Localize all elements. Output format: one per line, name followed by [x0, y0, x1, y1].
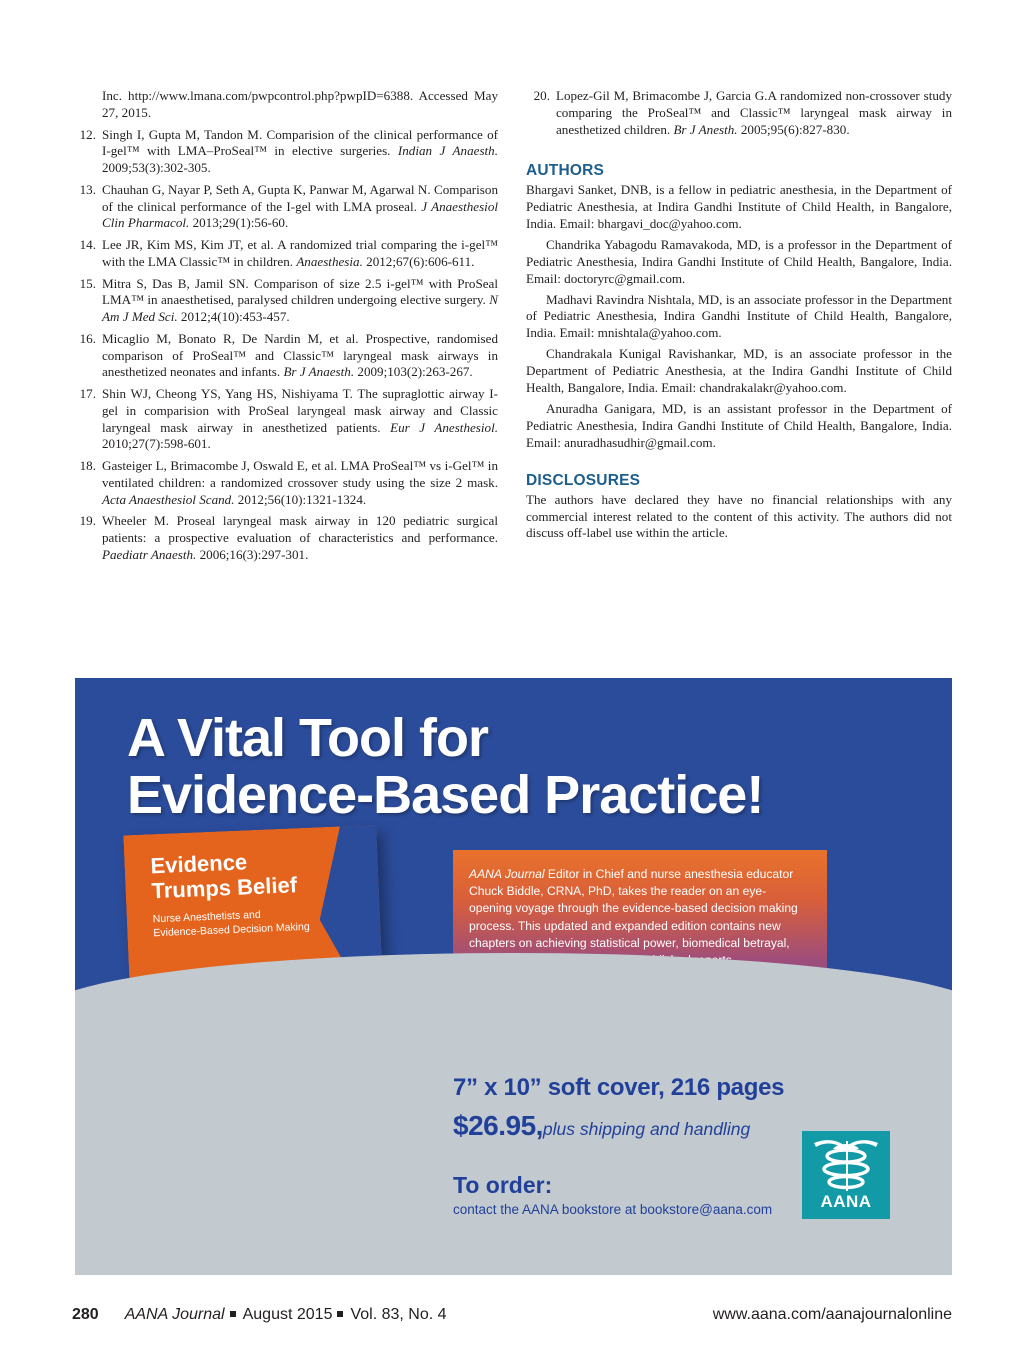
reference-citation: 2012;4(10):453-457.: [178, 309, 290, 324]
reference-number: 14.: [72, 237, 96, 254]
author-bio: Madhavi Ravindra Nishtala, MD, is an ass…: [526, 292, 952, 343]
disclosures-text: The authors have declared they have no f…: [526, 492, 952, 543]
footer-url[interactable]: www.aana.com/aanajournalonline: [713, 1306, 952, 1324]
reference-citation: 2009;103(2):263-267.: [354, 364, 473, 379]
reference-text: Gasteiger L, Brimacombe J, Oswald E, et …: [102, 458, 498, 490]
ad-description-text: Editor in Chief and nurse anesthesia edu…: [469, 867, 798, 967]
text-columns: Inc. http://www.lmana.com/pwpcontrol.php…: [72, 88, 952, 569]
reference-continuation-text: Inc. http://www.lmana.com/pwpcontrol.php…: [102, 88, 498, 120]
author-bio: Anuradha Ganigara, MD, is an assistant p…: [526, 401, 952, 452]
reference-number: 13.: [72, 182, 96, 199]
reference-citation: 2005;95(6):827-830.: [738, 122, 850, 137]
reference-journal: Br J Anaesth.: [283, 364, 354, 379]
right-column: 20.Lopez-Gil M, Brimacombe J, Garcia G.A…: [526, 88, 952, 569]
reference-journal: Br J Anesth.: [673, 122, 737, 137]
disclosures-heading: DISCLOSURES: [526, 472, 952, 490]
author-bio: Chandrakala Kunigal Ravishankar, MD, is …: [526, 346, 952, 397]
reference-text: Mitra S, Das B, Jamil SN. Comparison of …: [102, 276, 498, 308]
reference-number: 12.: [72, 127, 96, 144]
footer-page-number: 280: [72, 1306, 99, 1324]
reference-journal: Anaesthesia.: [296, 254, 363, 269]
footer-issue-date: August 2015: [243, 1306, 333, 1323]
reference-citation: 2013;29(1):56-60.: [189, 215, 288, 230]
author-bio: Bhargavi Sanket, DNB, is a fellow in ped…: [526, 182, 952, 233]
ad-price: $26.95,: [453, 1110, 543, 1141]
authors-heading: AUTHORS: [526, 162, 952, 180]
footer-separator-icon: [337, 1311, 343, 1317]
reference-list-left: 12.Singh I, Gupta M, Tandon M. Comparisi…: [72, 127, 498, 564]
reference-number: 20.: [526, 88, 550, 105]
ad-headline: A Vital Tool for Evidence-Based Practice…: [127, 710, 763, 824]
reference-item: 20.Lopez-Gil M, Brimacombe J, Garcia G.A…: [526, 88, 952, 138]
reference-item: 18.Gasteiger L, Brimacombe J, Oswald E, …: [72, 458, 498, 508]
author-bio: Chandrika Yabagodu Ramavakoda, MD, is a …: [526, 237, 952, 288]
footer-journal-name: AANA Journal: [125, 1306, 225, 1323]
reference-item: 15.Mitra S, Das B, Jamil SN. Comparison …: [72, 276, 498, 326]
reference-item: 19.Wheeler M. Proseal laryngeal mask air…: [72, 513, 498, 563]
reference-citation: 2012;56(10):1321-1324.: [235, 492, 367, 507]
reference-number: 19.: [72, 513, 96, 530]
reference-citation: 2010;27(7):598-601.: [102, 436, 211, 451]
footer-volume: Vol. 83, No. 4: [350, 1306, 446, 1323]
reference-number: 18.: [72, 458, 96, 475]
aana-logo[interactable]: AANA: [802, 1131, 890, 1219]
footer-citation: AANA JournalAugust 2015Vol. 83, No. 4: [125, 1306, 447, 1324]
reference-journal: Eur J Anesthesiol.: [390, 420, 498, 435]
reference-item: 13.Chauhan G, Nayar P, Seth A, Gupta K, …: [72, 182, 498, 232]
reference-list-right: 20.Lopez-Gil M, Brimacombe J, Garcia G.A…: [526, 88, 952, 138]
page-footer: 280 AANA JournalAugust 2015Vol. 83, No. …: [72, 1306, 952, 1324]
caduceus-icon: [802, 1131, 890, 1201]
reference-citation: 2006;16(3):297-301.: [196, 547, 308, 562]
reference-journal: Indian J Anaesth.: [398, 143, 498, 158]
aana-logo-text: AANA: [802, 1192, 890, 1212]
ad-specs: 7” x 10” soft cover, 216 pages: [453, 1074, 873, 1102]
reference-item: 14.Lee JR, Kim MS, Kim JT, et al. A rand…: [72, 237, 498, 271]
reference-citation: 2012;67(6):606-611.: [363, 254, 475, 269]
reference-item: 16.Micaglio M, Bonato R, De Nardin M, et…: [72, 331, 498, 381]
reference-number: 16.: [72, 331, 96, 348]
advertisement[interactable]: A Vital Tool for Evidence-Based Practice…: [75, 678, 952, 1275]
left-column: Inc. http://www.lmana.com/pwpcontrol.php…: [72, 88, 498, 569]
reference-item: 17.Shin WJ, Cheong YS, Yang HS, Nishiyam…: [72, 386, 498, 453]
reference-number: 17.: [72, 386, 96, 403]
ad-price-note: plus shipping and handling: [543, 1119, 750, 1139]
reference-continuation: Inc. http://www.lmana.com/pwpcontrol.php…: [72, 88, 498, 122]
reference-number: 15.: [72, 276, 96, 293]
ad-description-journal-name: AANA Journal: [469, 867, 545, 881]
footer-separator-icon: [230, 1311, 236, 1317]
reference-citation: 2009;53(3):302-305.: [102, 160, 211, 175]
reference-journal: Acta Anaesthesiol Scand.: [102, 492, 235, 507]
book-title: Evidence Trumps Belief: [150, 848, 297, 903]
reference-item: 12.Singh I, Gupta M, Tandon M. Comparisi…: [72, 127, 498, 177]
reference-text: Wheeler M. Proseal laryngeal mask airway…: [102, 513, 498, 545]
reference-journal: Paediatr Anaesth.: [102, 547, 196, 562]
